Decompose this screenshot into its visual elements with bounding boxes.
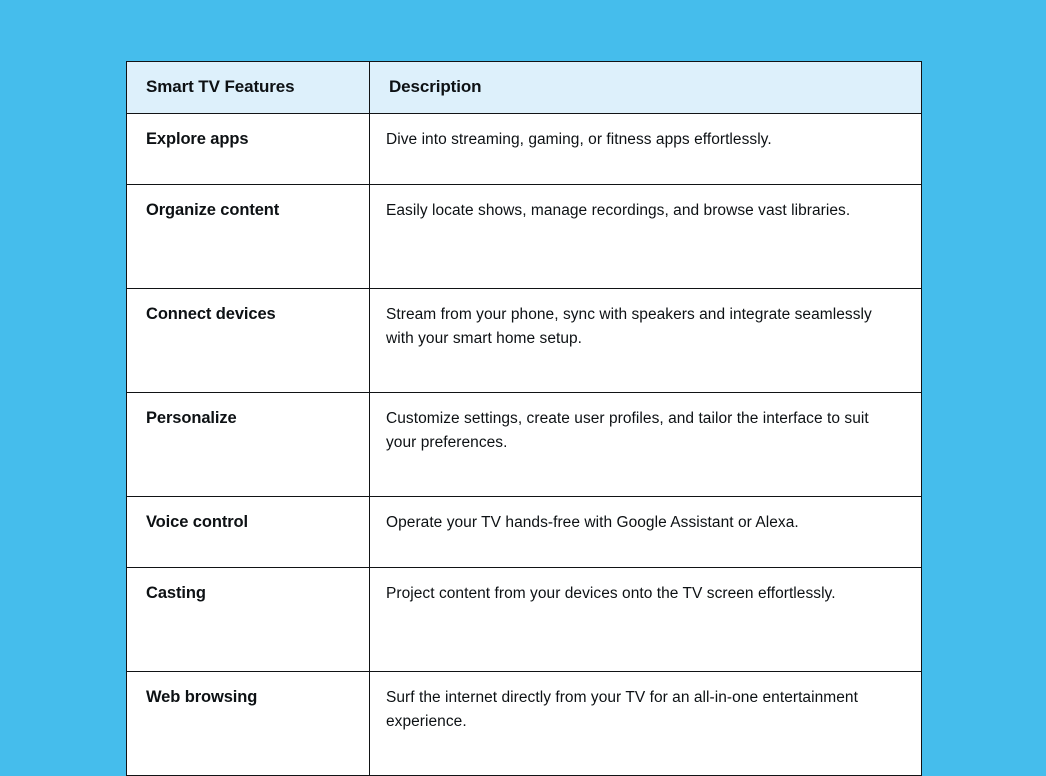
feature-description: Project content from your devices onto t… [370, 568, 922, 672]
table-row: Voice control Operate your TV hands-free… [127, 497, 922, 568]
table-body: Explore apps Dive into streaming, gaming… [127, 114, 922, 776]
feature-description: Dive into streaming, gaming, or fitness … [370, 114, 922, 185]
table-row: Web browsing Surf the internet directly … [127, 672, 922, 776]
feature-label: Web browsing [127, 672, 370, 776]
table-row: Organize content Easily locate shows, ma… [127, 185, 922, 289]
column-header-description: Description [370, 62, 922, 114]
smart-tv-features-table: Smart TV Features Description Explore ap… [126, 61, 922, 776]
feature-label: Explore apps [127, 114, 370, 185]
table-header-row: Smart TV Features Description [127, 62, 922, 114]
feature-label: Organize content [127, 185, 370, 289]
feature-label: Casting [127, 568, 370, 672]
feature-description: Stream from your phone, sync with speake… [370, 289, 922, 393]
table-row: Explore apps Dive into streaming, gaming… [127, 114, 922, 185]
feature-description: Surf the internet directly from your TV … [370, 672, 922, 776]
table-container: Smart TV Features Description Explore ap… [126, 61, 921, 776]
feature-label: Voice control [127, 497, 370, 568]
feature-label: Personalize [127, 393, 370, 497]
feature-description: Customize settings, create user profiles… [370, 393, 922, 497]
table-row: Connect devices Stream from your phone, … [127, 289, 922, 393]
table-row: Personalize Customize settings, create u… [127, 393, 922, 497]
table-row: Casting Project content from your device… [127, 568, 922, 672]
feature-label: Connect devices [127, 289, 370, 393]
feature-description: Operate your TV hands-free with Google A… [370, 497, 922, 568]
feature-description: Easily locate shows, manage recordings, … [370, 185, 922, 289]
table-header: Smart TV Features Description [127, 62, 922, 114]
column-header-feature: Smart TV Features [127, 62, 370, 114]
